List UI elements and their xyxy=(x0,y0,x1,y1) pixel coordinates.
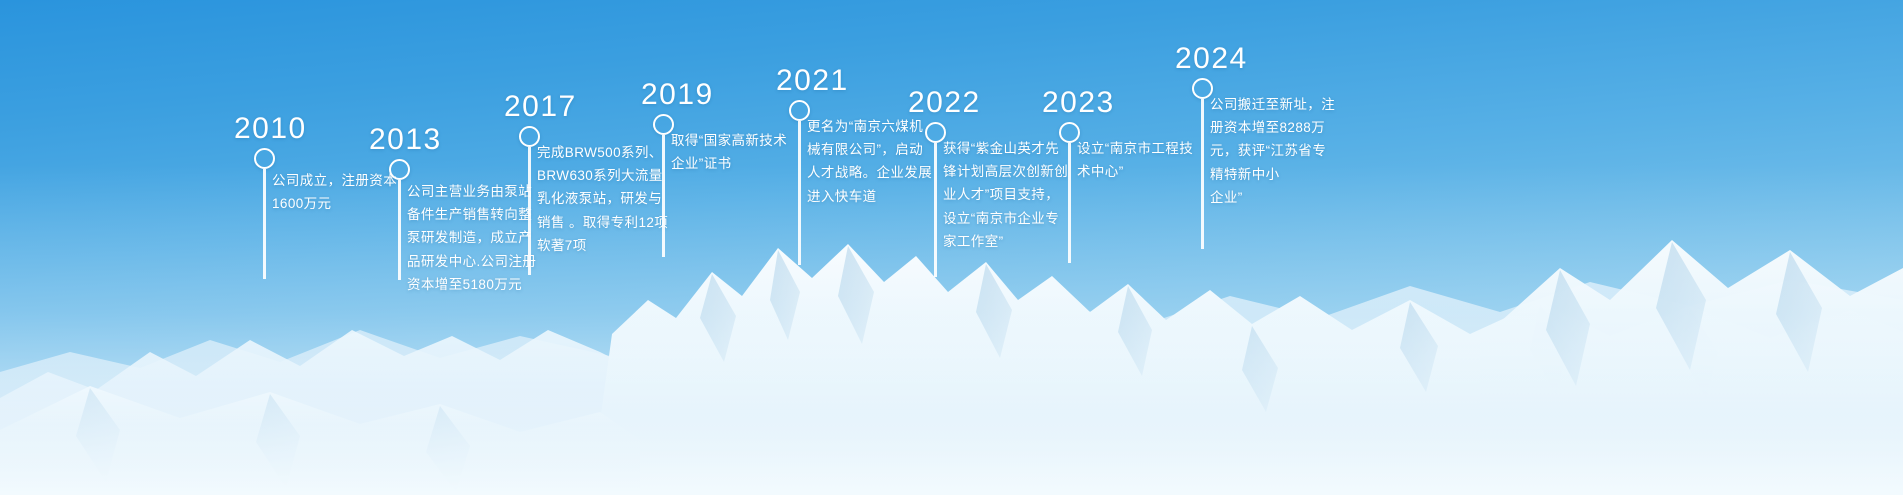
timeline-year-2022: 2022 xyxy=(908,88,981,118)
timeline-stem-2013 xyxy=(398,180,400,280)
timeline-stem-2023 xyxy=(1068,143,1070,263)
timeline-stem-2010 xyxy=(263,169,265,279)
timeline-stem-2021 xyxy=(798,121,800,265)
timeline-dot-2010 xyxy=(254,148,275,169)
timeline-infographic: 2010 公司成立，注册资本 1600万元 2013 公司主营业务由泵站 备件生… xyxy=(0,0,1903,495)
timeline-year-2021: 2021 xyxy=(776,66,849,96)
timeline-year-2023: 2023 xyxy=(1042,88,1115,118)
timeline-year-2024: 2024 xyxy=(1175,44,1248,74)
timeline-year-2010: 2010 xyxy=(234,114,307,144)
timeline-stem-2017 xyxy=(528,147,530,275)
timeline-year-2013: 2013 xyxy=(369,125,442,155)
timeline-description-2024: 公司搬迁至新址，注 册资本增至8288万 元，获评“江苏省专 精特新中小 企业” xyxy=(1210,93,1378,209)
timeline-dot-2013 xyxy=(389,159,410,180)
timeline-year-2017: 2017 xyxy=(504,92,577,122)
timeline-stem-2022 xyxy=(934,143,936,277)
timeline-stem-2019 xyxy=(662,135,664,257)
timeline-year-2019: 2019 xyxy=(641,80,714,110)
timeline-stem-2024 xyxy=(1201,99,1203,249)
